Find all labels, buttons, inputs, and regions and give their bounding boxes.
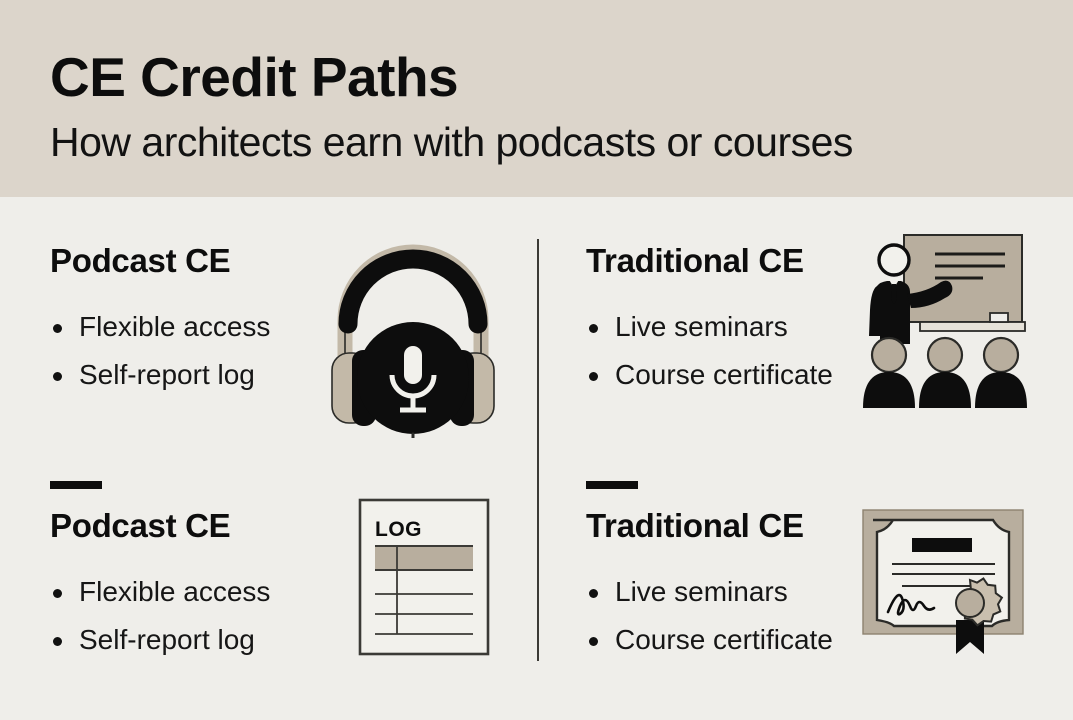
page-title: CE Credit Paths (50, 46, 458, 108)
infographic-page: CE Credit Paths How architects earn with… (0, 0, 1073, 720)
list-item: Self-report log (50, 351, 270, 399)
panel-heading: Podcast CE (50, 507, 270, 545)
panel-podcast-ce-top: Podcast CE Flexible access Self-report l… (50, 242, 270, 399)
section-rule (586, 481, 638, 489)
list-item: Self-report log (50, 616, 270, 664)
section-rule (50, 481, 102, 489)
list-item: Live seminars (586, 303, 833, 351)
panel-heading: Traditional CE (586, 507, 833, 545)
panel-traditional-ce-top: Traditional CE Live seminars Course cert… (586, 242, 833, 399)
panel-heading: Podcast CE (50, 242, 270, 280)
column-divider (537, 239, 539, 661)
list-item: Flexible access (50, 568, 270, 616)
panel-bullet-list: Live seminars Course certificate (586, 568, 833, 664)
log-sheet-icon: LOG (358, 498, 490, 661)
panel-podcast-ce-bottom: Podcast CE Flexible access Self-report l… (50, 481, 270, 664)
certificate-seal-icon (860, 502, 1030, 665)
list-item: Live seminars (586, 568, 833, 616)
classroom-presenter-icon (855, 232, 1035, 417)
panel-bullet-list: Live seminars Course certificate (586, 303, 833, 399)
panel-heading: Traditional CE (586, 242, 833, 280)
list-item: Course certificate (586, 616, 833, 664)
panel-bullet-list: Flexible access Self-report log (50, 568, 270, 664)
list-item: Course certificate (586, 351, 833, 399)
panel-bullet-list: Flexible access Self-report log (50, 303, 270, 399)
header-band: CE Credit Paths How architects earn with… (0, 0, 1073, 197)
headphones-microphone-icon (318, 228, 508, 443)
panel-traditional-ce-bottom: Traditional CE Live seminars Course cert… (586, 481, 833, 664)
log-sheet-label: LOG (375, 518, 422, 541)
page-subtitle: How architects earn with podcasts or cou… (50, 117, 853, 167)
list-item: Flexible access (50, 303, 270, 351)
